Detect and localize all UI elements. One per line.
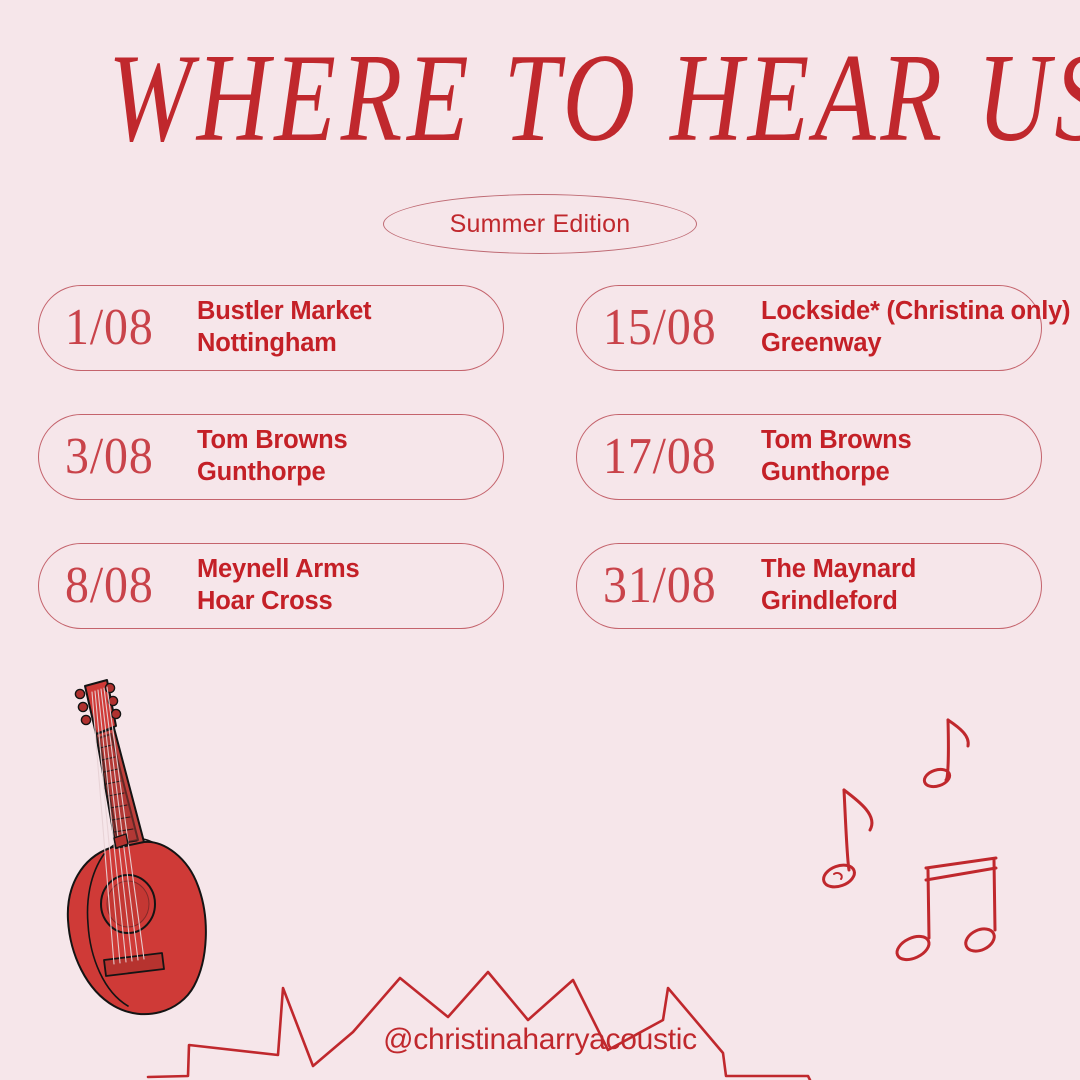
events-row-3: 8/08 Meynell Arms Hoar Cross 31/08 The M…	[38, 543, 1042, 629]
event-location: Hoar Cross	[197, 586, 359, 618]
instagram-handle[interactable]: @christinaharryacoustic	[0, 1023, 1080, 1057]
event-venue-block: Tom Browns Gunthorpe	[761, 425, 912, 488]
event-venue-block: Lockside* (Christina only) Greenway	[761, 296, 1070, 359]
edition-label: Summer Edition	[450, 210, 631, 239]
event-venue-block: Bustler Market Nottingham	[197, 296, 371, 359]
event-venue: The Maynard	[761, 555, 916, 583]
event-location: Gunthorpe	[197, 457, 348, 489]
event-venue: Tom Browns	[761, 426, 912, 454]
event-date: 31/08	[603, 560, 748, 612]
event-venue: Lockside* (Christina only)	[761, 297, 1070, 325]
acoustic-guitar-icon	[52, 672, 232, 1020]
event-date: 3/08	[65, 431, 186, 483]
event-venue-block: Tom Browns Gunthorpe	[197, 425, 348, 488]
event-venue: Tom Browns	[197, 426, 348, 454]
events-row-1: 1/08 Bustler Market Nottingham 15/08 Loc…	[38, 285, 1042, 371]
event-card[interactable]: 1/08 Bustler Market Nottingham	[38, 285, 504, 371]
event-venue: Meynell Arms	[197, 555, 359, 583]
event-date: 8/08	[65, 560, 186, 612]
event-date: 15/08	[603, 302, 748, 354]
event-venue-block: Meynell Arms Hoar Cross	[197, 554, 359, 617]
event-date: 1/08	[65, 302, 186, 354]
event-location: Greenway	[761, 328, 1070, 360]
event-date: 17/08	[603, 431, 748, 483]
page-title: WHERE TO HEAR US	[108, 36, 972, 162]
event-venue: Bustler Market	[197, 297, 371, 325]
events-list: 1/08 Bustler Market Nottingham 15/08 Loc…	[38, 285, 1042, 672]
event-card[interactable]: 31/08 The Maynard Grindleford	[576, 543, 1042, 629]
event-card[interactable]: 15/08 Lockside* (Christina only) Greenwa…	[576, 285, 1042, 371]
event-location: Nottingham	[197, 328, 371, 360]
event-location: Grindleford	[761, 586, 916, 618]
event-card[interactable]: 8/08 Meynell Arms Hoar Cross	[38, 543, 504, 629]
edition-badge: Summer Edition	[383, 194, 697, 254]
event-card[interactable]: 17/08 Tom Browns Gunthorpe	[576, 414, 1042, 500]
poster-canvas: WHERE TO HEAR US Summer Edition 1/08 Bus…	[0, 0, 1080, 1080]
music-notes-icon	[808, 698, 1048, 998]
event-venue-block: The Maynard Grindleford	[761, 554, 916, 617]
event-location: Gunthorpe	[761, 457, 912, 489]
events-row-2: 3/08 Tom Browns Gunthorpe 17/08 Tom Brow…	[38, 414, 1042, 500]
event-card[interactable]: 3/08 Tom Browns Gunthorpe	[38, 414, 504, 500]
